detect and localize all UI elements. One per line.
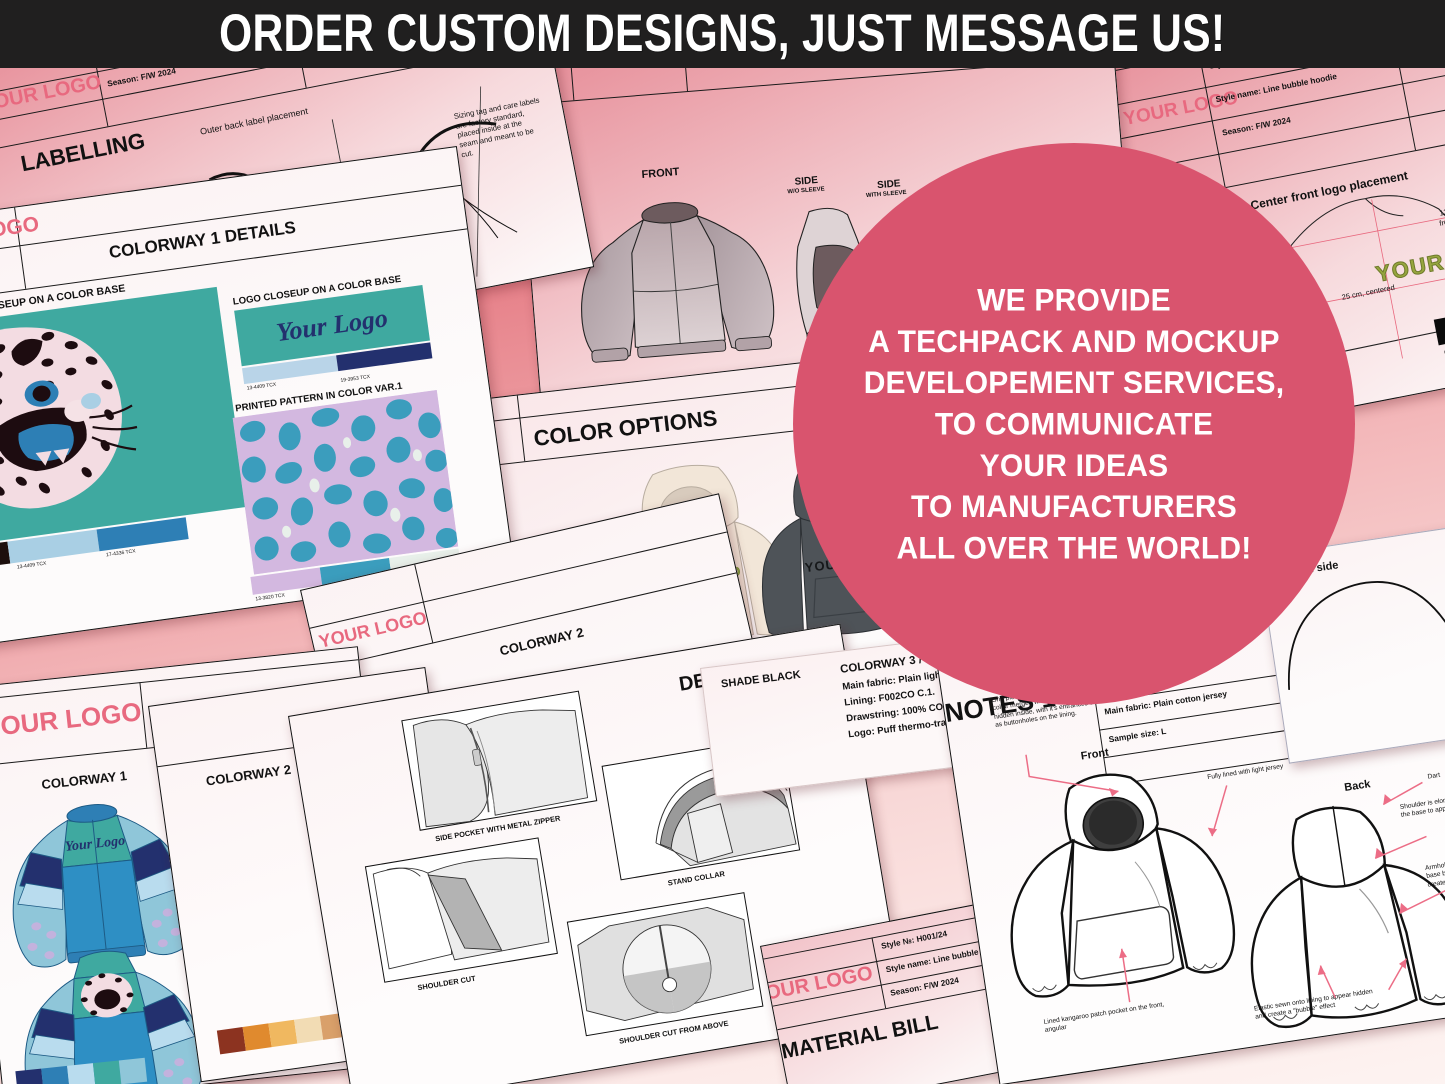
view-label-front: FRONT [641, 166, 680, 181]
view-sub-side-wo: W/O SLEEVE [787, 186, 825, 195]
mb-info-style-nr: Style №: H001/24 [880, 929, 947, 951]
detail-panel-shoulder-above [567, 892, 764, 1036]
cw-swatch-cobalt-blue [41, 1066, 69, 1084]
promo-graphic-canvas: YOUR LOGO Style №: H001/24 Style name: L… [0, 0, 1445, 1084]
swatch-code-17-4336: 17-4336 TCX [106, 548, 136, 558]
cw-swatch-baby-blue [67, 1063, 95, 1084]
promo-circle: WE PROVIDE A TECHPACK AND MOCKUP DEVELOP… [793, 143, 1355, 705]
cw-swatch-lilac-leopard [119, 1058, 147, 1084]
logo-placeholder-text: YOUR LOGO [760, 962, 875, 1008]
shoulder-cut-drawing [366, 838, 559, 983]
promo-circle-text: WE PROVIDE A TECHPACK AND MOCKUP DEVELOP… [850, 279, 1299, 568]
cw2-swatch-sand [294, 1016, 323, 1043]
side-pocket-drawing [402, 691, 598, 831]
colorway1-label: COLORWAY 1 [41, 768, 128, 792]
logo-placeholder-text: YOUR LOGO [0, 696, 143, 743]
detail-panel-side-pocket [401, 691, 597, 831]
detail-panel-shoulder-cut [365, 837, 558, 982]
mb-info-season: Season: F/W 2024 [890, 976, 960, 998]
labelling-title: LABELLING [19, 128, 148, 178]
colorway2-swatch-row [217, 1012, 349, 1054]
shade-black-label: SHADE BLACK [720, 669, 801, 691]
cw2-swatch-amber [268, 1020, 297, 1047]
leopard-graphic [0, 287, 247, 552]
info-row-season: Season: F/W 2024 [107, 66, 177, 88]
swatch-code-13-3820: 13-3820 TCX [255, 593, 285, 603]
colorway2-title: COLORWAY 2 [498, 625, 585, 659]
leopard-pattern-swatch [233, 390, 459, 574]
colorway2-overlay-label: COLORWAY 2 [205, 762, 292, 789]
logo-script-text: Your Logo [275, 303, 390, 348]
cw-swatch-navy-blue [15, 1069, 43, 1084]
swatch-code-13-4409: 13-4409 TCX [17, 561, 47, 571]
logo-placeholder-text: YOUR LOGO [0, 71, 103, 117]
info-row-season: Season: F/W 2024 [1221, 116, 1291, 138]
cw2-swatch-rust-brown [217, 1027, 246, 1054]
cw-swatch-turquoise-blue [93, 1060, 121, 1084]
material-bill-title: MATERIAL BILL [779, 1011, 940, 1065]
view-label-side-with: SIDE [877, 178, 901, 191]
swatch-code-13-4409-logo: 13-4409 TCX [246, 382, 276, 392]
graphic-closeup-panel [0, 287, 247, 552]
shoulder-cut-above-drawing [568, 893, 765, 1037]
header-banner-text: ORDER CUSTOM DESIGNS, JUST MESSAGE US! [219, 4, 1225, 64]
windbreaker-front-flat [563, 184, 788, 390]
view-label-side-wo: SIDE [794, 175, 818, 188]
cw2-swatch-burnt-orange [243, 1023, 272, 1050]
swatch-code-19-3953: 19-3953 TCX [340, 374, 370, 384]
header-banner: ORDER CUSTOM DESIGNS, JUST MESSAGE US! [0, 0, 1445, 68]
printed-pattern-panel [233, 390, 459, 574]
